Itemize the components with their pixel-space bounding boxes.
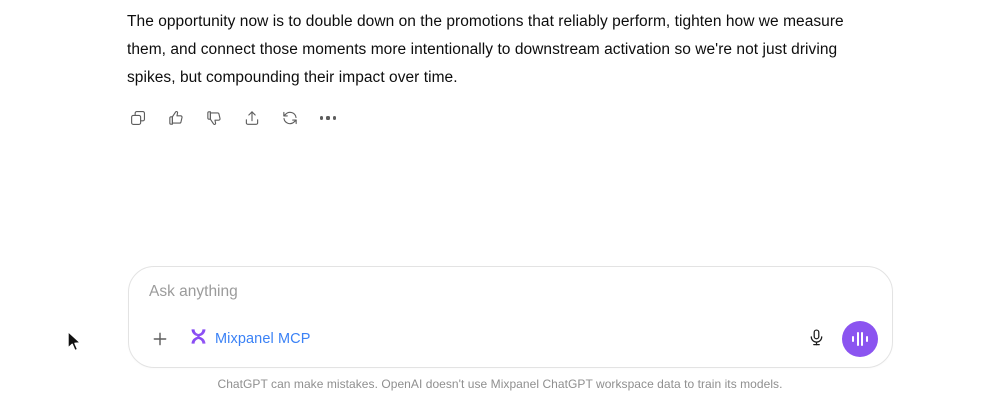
plus-icon bbox=[150, 329, 170, 349]
mixpanel-logo-icon bbox=[189, 327, 208, 351]
add-attachment-button[interactable] bbox=[145, 324, 175, 354]
message-action-bar bbox=[124, 104, 342, 132]
tool-chip-mixpanel-mcp[interactable]: Mixpanel MCP bbox=[183, 323, 316, 355]
regenerate-button[interactable] bbox=[276, 104, 304, 132]
thumbs-down-icon bbox=[205, 109, 223, 127]
footer-disclaimer: ChatGPT can make mistakes. OpenAI doesn'… bbox=[0, 377, 1000, 391]
voice-mode-button[interactable] bbox=[842, 321, 878, 357]
regenerate-icon bbox=[281, 109, 299, 127]
chat-screen: The opportunity now is to double down on… bbox=[0, 0, 1000, 400]
thumbs-down-button[interactable] bbox=[200, 104, 228, 132]
assistant-message-text: The opportunity now is to double down on… bbox=[127, 8, 887, 92]
copy-button[interactable] bbox=[124, 104, 152, 132]
mouse-cursor bbox=[66, 330, 84, 354]
tool-chip-label: Mixpanel MCP bbox=[215, 331, 310, 347]
microphone-icon bbox=[807, 328, 826, 350]
prompt-input[interactable] bbox=[149, 283, 849, 301]
share-button[interactable] bbox=[238, 104, 266, 132]
copy-icon bbox=[129, 109, 147, 127]
assistant-message: The opportunity now is to double down on… bbox=[127, 8, 887, 92]
thumbs-up-icon bbox=[167, 109, 185, 127]
more-options-button[interactable] bbox=[314, 104, 342, 132]
dictate-button[interactable] bbox=[802, 325, 830, 353]
message-composer[interactable]: Mixpanel MCP bbox=[128, 266, 893, 368]
share-icon bbox=[243, 109, 261, 127]
composer-actions bbox=[802, 321, 878, 357]
more-options-icon bbox=[320, 116, 336, 119]
thumbs-up-button[interactable] bbox=[162, 104, 190, 132]
composer-toolbar: Mixpanel MCP bbox=[129, 311, 892, 367]
voice-waveform-icon bbox=[852, 331, 868, 347]
